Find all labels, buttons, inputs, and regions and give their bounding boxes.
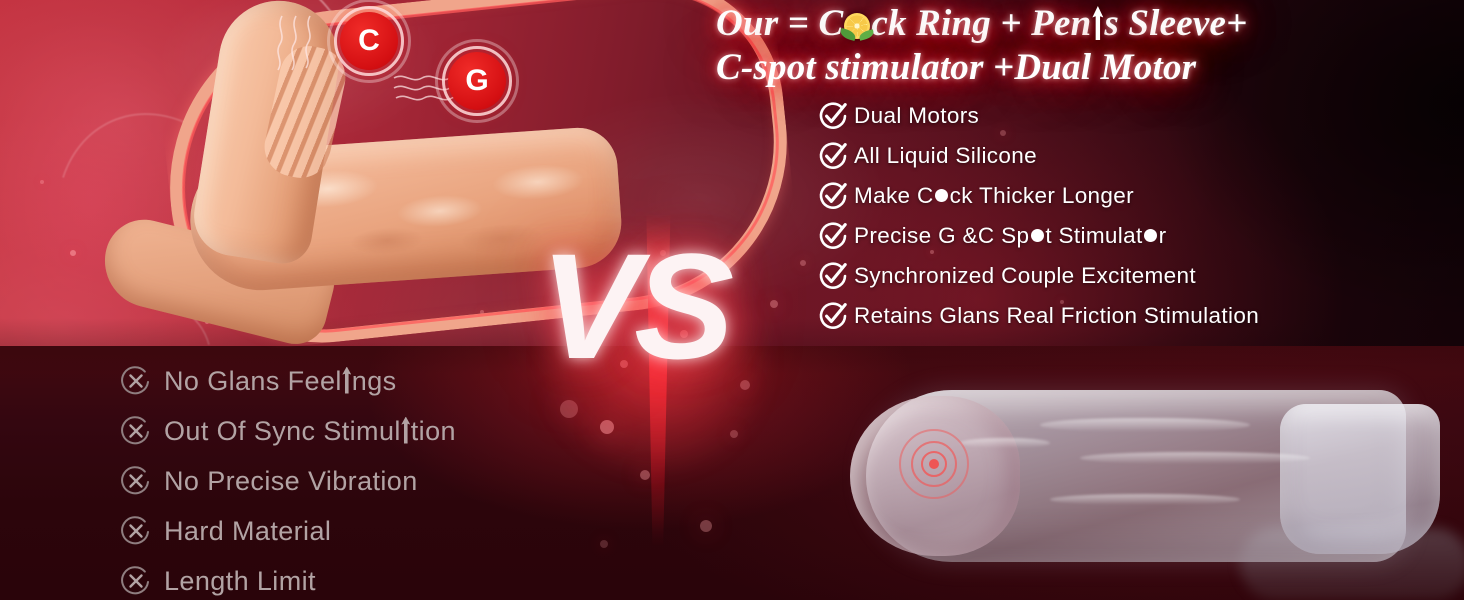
- competitor-sleeve-base: [1280, 404, 1440, 554]
- list-item: Out Of Sync Stimultion: [120, 406, 680, 456]
- product-image-ours: C G: [40, 0, 600, 370]
- list-item: All Liquid Silicone: [818, 136, 1458, 176]
- list-item: No Glans Feelngs: [120, 356, 680, 406]
- headline: Our = Cck Ring + Pens Sleeve+ C-spot sti…: [716, 2, 1456, 89]
- list-item-label: Out Of Sync Stimultion: [164, 416, 456, 447]
- x-circle-icon: [120, 515, 152, 547]
- g-spot-badge: G: [448, 52, 506, 110]
- list-item-label: Dual Motors: [854, 103, 979, 129]
- list-item-label-before: Make C: [854, 183, 934, 208]
- list-item: Length Limit: [120, 556, 680, 600]
- arrow-up-spike-icon: [401, 417, 410, 444]
- pros-list: Dual Motors All Liquid Silicone Make Cck…: [818, 96, 1458, 336]
- check-circle-icon: [818, 221, 848, 251]
- lemon-slice-icon: [844, 13, 870, 39]
- list-item-label-before: Out Of Sync Stimul: [164, 416, 401, 446]
- list-item-label: Retains Glans Real Friction Stimulation: [854, 303, 1259, 329]
- badge-letter-c: C: [340, 12, 398, 70]
- list-item-label-after: r: [1159, 223, 1167, 248]
- list-item-label-before: Precise G &C Sp: [854, 223, 1029, 248]
- sleeve-wrinkle: [960, 438, 1050, 448]
- list-item: Make Cck Thicker Longer: [818, 176, 1458, 216]
- censor-dot-icon: [935, 189, 948, 202]
- list-item-label: Length Limit: [164, 566, 316, 597]
- comparison-banner: C G VS Our = Cck Ring + Pens Sleeve+ C-s…: [0, 0, 1464, 600]
- c-spot-badge: C: [340, 12, 398, 70]
- list-item-label: No Glans Feelngs: [164, 366, 397, 397]
- headline-line2: C-spot stimulator +Dual Motor: [716, 46, 1456, 90]
- product-image-competitor: [840, 378, 1464, 600]
- censor-dot-icon: [1144, 229, 1157, 242]
- x-circle-icon: [120, 465, 152, 497]
- list-item: Dual Motors: [818, 96, 1458, 136]
- x-circle-icon: [120, 565, 152, 597]
- x-circle-icon: [120, 365, 152, 397]
- list-item-label: No Precise Vibration: [164, 466, 418, 497]
- list-item-label-mid: t Stimulat: [1045, 223, 1142, 248]
- list-item-label: Synchronized Couple Excitement: [854, 263, 1196, 289]
- list-item-label-after: tion: [411, 416, 456, 446]
- check-circle-icon: [818, 101, 848, 131]
- headline-part-b: ck Ring + Pen: [871, 3, 1091, 44]
- list-item-label: Hard Material: [164, 516, 331, 547]
- headline-part-a: Our = C: [716, 3, 843, 44]
- check-circle-icon: [818, 261, 848, 291]
- list-item: Hard Material: [120, 506, 680, 556]
- headline-part-c: s Sleeve+: [1104, 3, 1247, 44]
- list-item: Synchronized Couple Excitement: [818, 256, 1458, 296]
- sleeve-wrinkle: [1080, 452, 1310, 464]
- badge-letter-g: G: [448, 52, 506, 110]
- x-circle-icon: [120, 415, 152, 447]
- cons-list: No Glans Feelngs Out Of Sync Stimultion …: [120, 356, 680, 600]
- censor-dot-icon: [1031, 229, 1044, 242]
- arrow-up-spike-icon: [1092, 6, 1103, 40]
- list-item-label: All Liquid Silicone: [854, 143, 1037, 169]
- list-item-label-after: ck Thicker Longer: [950, 183, 1134, 208]
- list-item-label-after: ngs: [352, 366, 397, 396]
- list-item: Precise G &C Spt Stimulatr: [818, 216, 1458, 256]
- vibration-pulse-icon: [896, 426, 972, 502]
- list-item-label: Make Cck Thicker Longer: [854, 183, 1134, 209]
- check-circle-icon: [818, 181, 848, 211]
- list-item: Retains Glans Real Friction Stimulation: [818, 296, 1458, 336]
- check-circle-icon: [818, 141, 848, 171]
- sleeve-wrinkle: [1050, 494, 1240, 505]
- list-item-label-before: No Glans Feel: [164, 366, 342, 396]
- arrow-up-spike-icon: [342, 367, 351, 394]
- check-circle-icon: [818, 301, 848, 331]
- headline-line1: Our = Cck Ring + Pens Sleeve+: [716, 3, 1247, 44]
- list-item-label: Precise G &C Spt Stimulatr: [854, 223, 1166, 249]
- list-item: No Precise Vibration: [120, 456, 680, 506]
- sleeve-wrinkle: [1040, 418, 1250, 432]
